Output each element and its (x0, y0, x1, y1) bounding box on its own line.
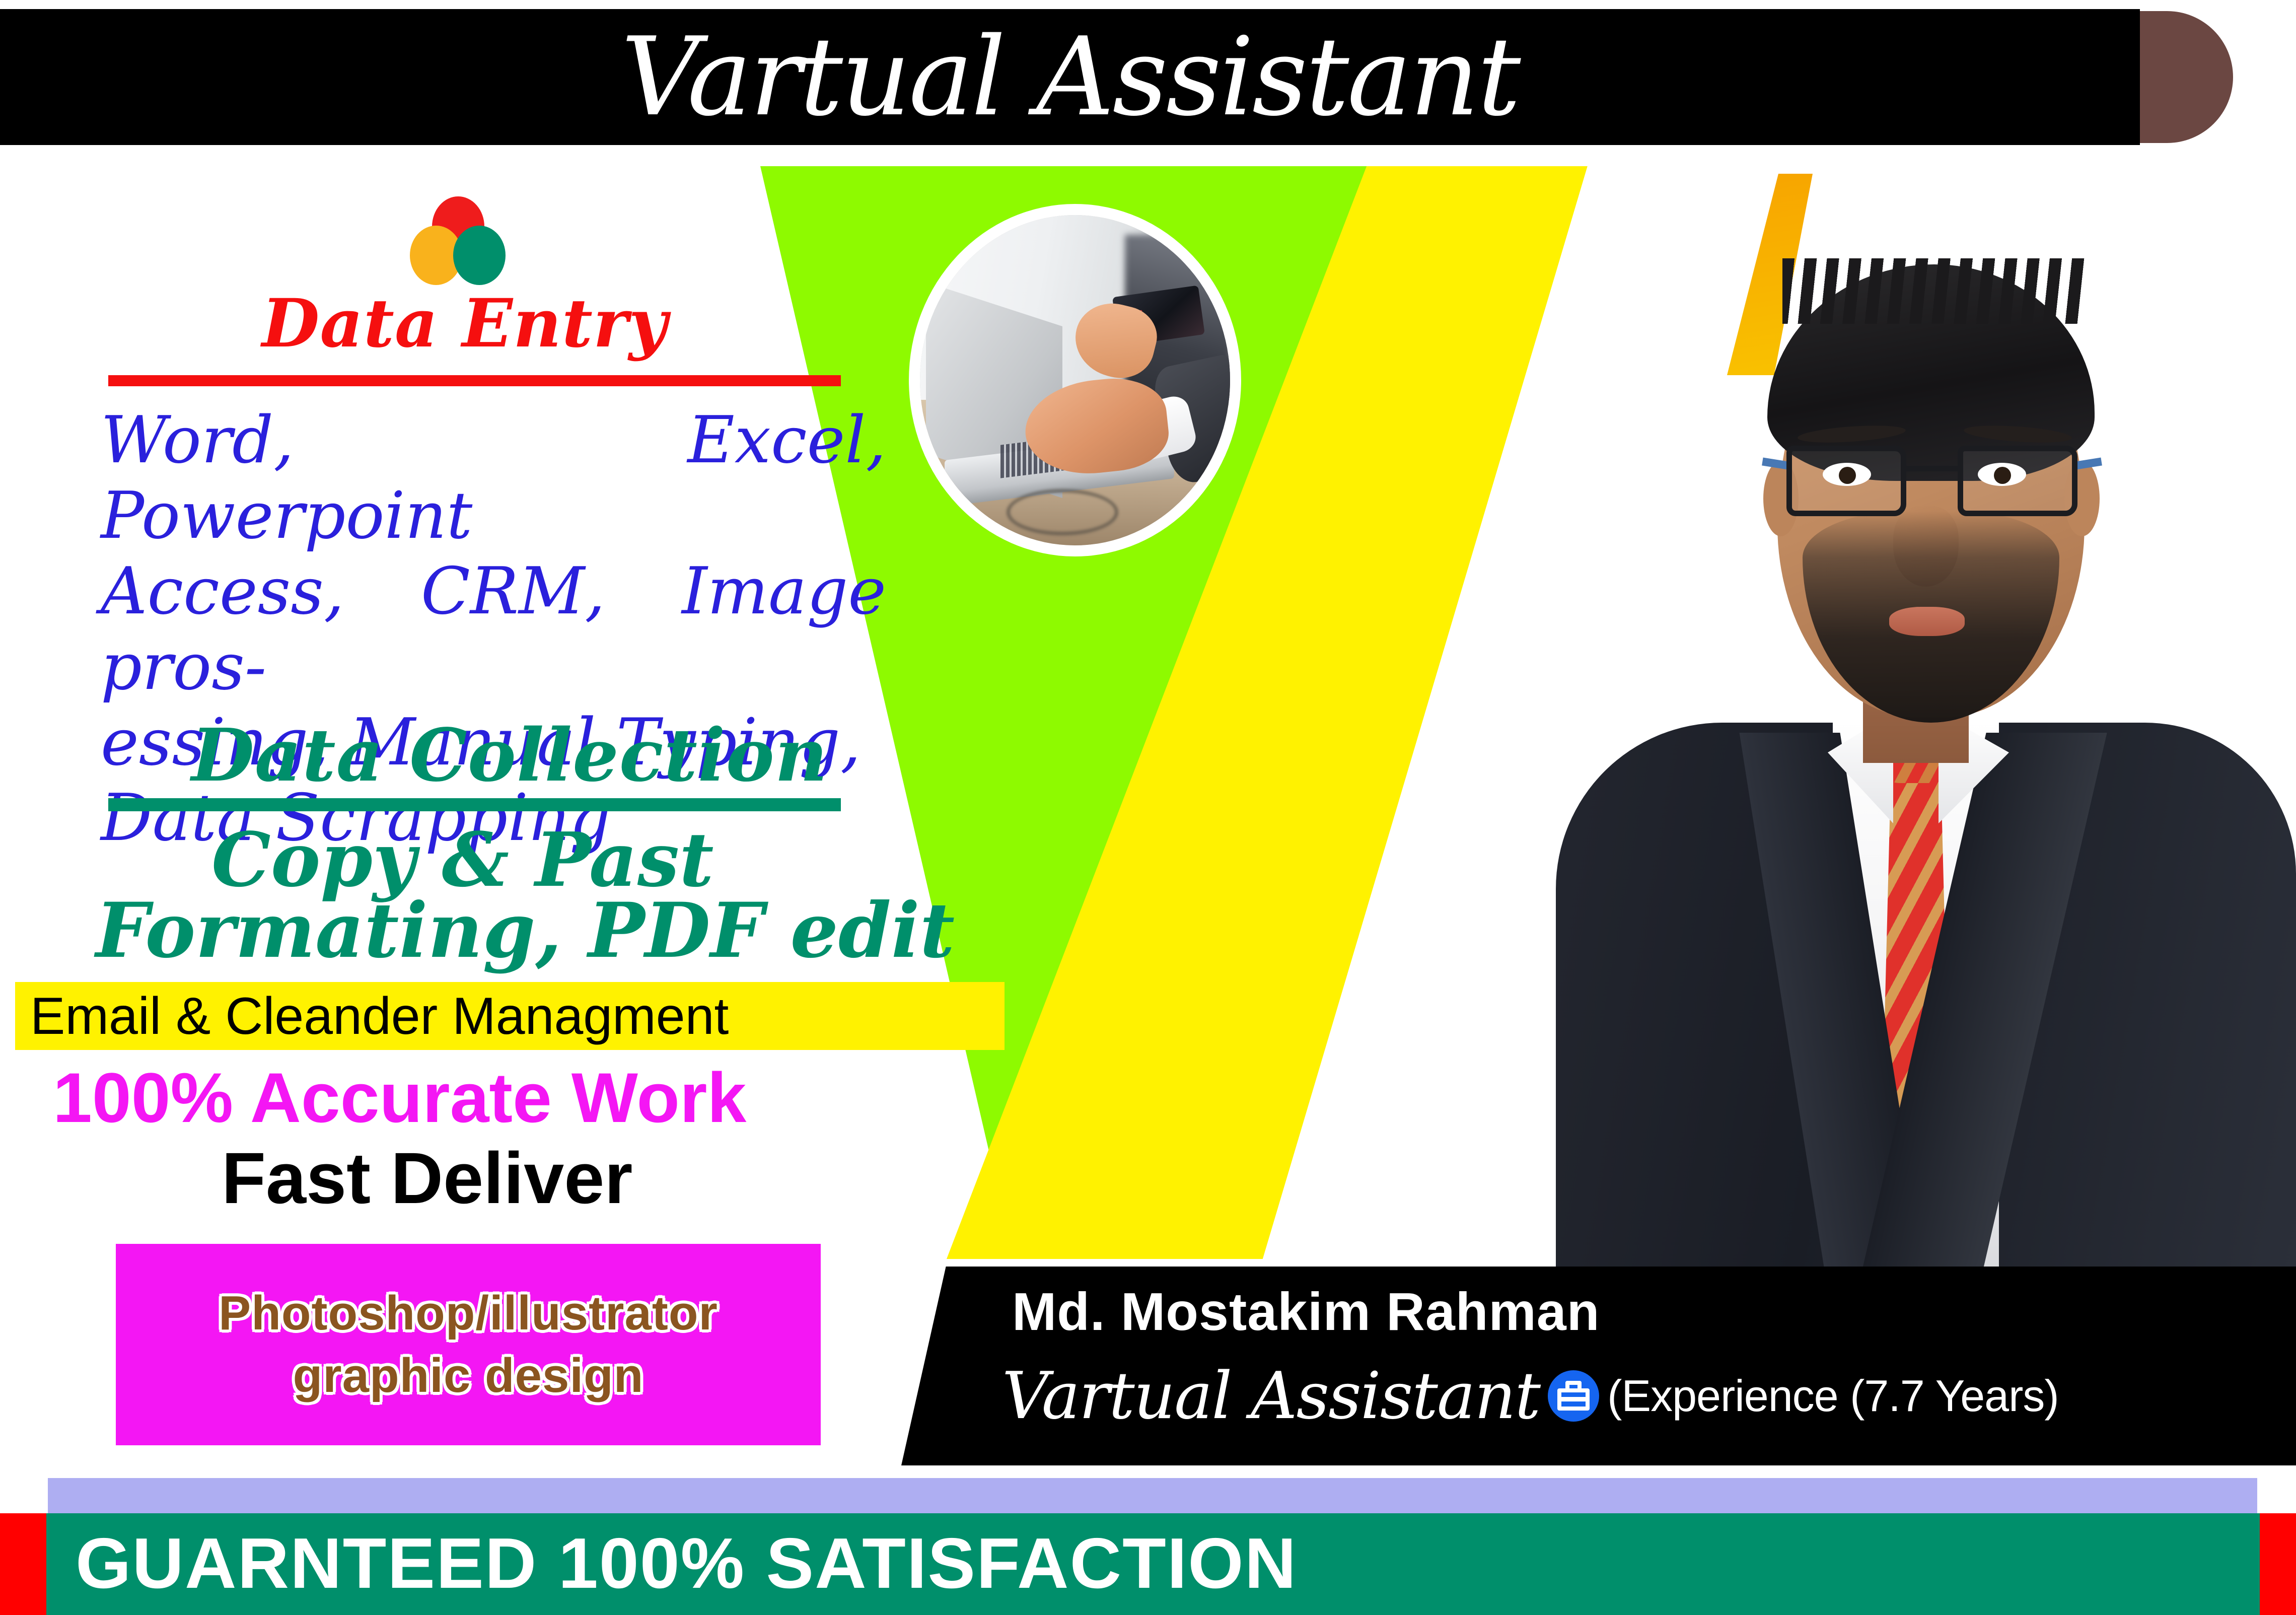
graphic-design-text-group: Photoshop/illustrator graphic design (116, 1244, 821, 1445)
eye-left (1823, 463, 1871, 486)
footer-accent-bar (48, 1478, 2257, 1515)
hair-spikes (1782, 258, 2085, 324)
person-name: Md. Mostakim Rahman (1012, 1282, 2220, 1342)
fast-deliver-text: Fast Deliver (222, 1138, 876, 1219)
page-title: Vartual Assistant (0, 9, 2140, 145)
accurate-work-text: 100% Accurate Work (53, 1058, 999, 1138)
copy-and-past-text: Copy & Past (211, 816, 846, 896)
three-circle-logo (403, 196, 524, 282)
desk-eyeglasses (1007, 489, 1118, 535)
satisfaction-guarantee-text: GUARNTEED 100% SATISFACTION (76, 1518, 1787, 1609)
data-collection-heading: Data Collection (191, 713, 846, 793)
data-entry-heading: Data Entry (262, 285, 715, 350)
graphic-design-line-2: graphic design (293, 1348, 644, 1403)
eyeglasses (1786, 446, 2077, 521)
teal-dot-icon (453, 226, 506, 285)
email-management-text: Email & Cleander Managment (30, 986, 997, 1046)
role-row: Vartual Assistant (Experience (7.7 Years… (1002, 1346, 2261, 1446)
experience-text: (Experience (7.7 Years) (1607, 1370, 2059, 1422)
graphic-design-line-1: Photoshop/illustrator (219, 1286, 718, 1341)
role-title: Vartual Assistant (1002, 1359, 1540, 1434)
hands-typing-on-laptop-photo (909, 204, 1241, 556)
briefcase-latch (1561, 1397, 1586, 1401)
data-collection-divider (108, 798, 841, 811)
formating-pdf-edit-text: Formating, PDF edit (96, 886, 901, 972)
man-in-suit-portrait (1480, 209, 2296, 1267)
skills-line-2: Access, CRM, Image pros- (101, 554, 886, 705)
eye-right (1978, 463, 2026, 486)
briefcase-icon (1548, 1370, 1599, 1422)
glasses-bridge (1906, 466, 1958, 471)
footer-red-strip-left (0, 1513, 46, 1615)
lips (1889, 607, 1965, 636)
data-entry-divider (108, 375, 841, 386)
skills-line-1: Word, Excel, Powerpoint (101, 403, 886, 554)
footer-red-strip-right (2260, 1513, 2296, 1615)
